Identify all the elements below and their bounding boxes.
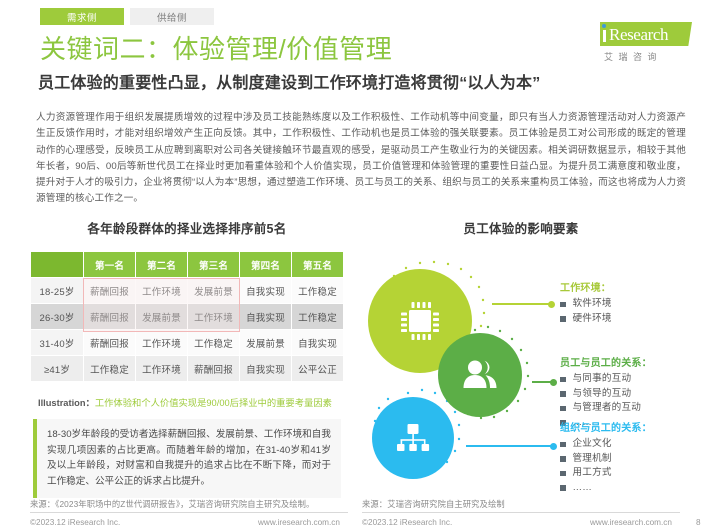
left-panel: 各年龄段群体的择业选择排序前5名 第一名 第二名 第三名 第四名 第五名 18-… — [28, 218, 346, 498]
legend-item: 软件环境 — [560, 297, 612, 312]
table-cell: 薪酬回报 — [84, 278, 135, 303]
bullet-square-icon — [560, 377, 566, 383]
body-paragraph: 人力资源管理作用于组织发展提质增效的过程中涉及员工技能熟练度以及工作积极性、工作… — [36, 110, 686, 208]
right-source-note: 来源：艾瑞咨询研究院自主研究及绘制 — [362, 498, 505, 510]
org-chart-icon — [393, 418, 433, 458]
connector-line-work-environment — [492, 303, 552, 305]
row-age-label: 31-40岁 — [31, 330, 83, 355]
influence-factors-diagram: 工作环境： 软件环境 硬件环境 员工与员工的关系： 与同事的互动 与领导的互动 … — [360, 251, 682, 496]
connector-dot-icon — [550, 379, 557, 386]
legend-item: 与管理者的互动 — [560, 401, 652, 416]
table-head: 第一名 第二名 第三名 第四名 第五名 — [31, 252, 343, 277]
legend-title: 工作环境： — [560, 279, 612, 294]
table-row: 18-25岁 薪酬回报 工作环境 发展前景 自我实现 工作稳定 — [31, 278, 343, 303]
table-col-header-3: 第三名 — [188, 252, 239, 277]
page-title: 关键词二：体验管理/价值管理 — [40, 29, 392, 66]
iresearch-logo: Research 艾瑞咨询 — [594, 22, 692, 66]
legend-item: 用工方式 — [560, 466, 652, 481]
left-note-box: 18-30岁年龄段的受访者选择薪酬回报、发展前景、工作环境和自我实现几项因素的占… — [33, 419, 341, 498]
legend-item-label: …… — [573, 481, 593, 496]
bullet-square-icon — [560, 442, 566, 448]
legend-item-label: 硬件环境 — [573, 312, 612, 327]
connector-line-organization-relations — [466, 445, 554, 447]
table-row: 26-30岁 薪酬回报 发展前景 工作环境 自我实现 工作稳定 — [31, 304, 343, 329]
bullet-square-icon — [560, 316, 566, 322]
bullet-square-icon — [560, 485, 566, 491]
right-copyright: ©2023.12 iResearch Inc. — [362, 518, 452, 527]
table-col-header-1: 第一名 — [84, 252, 135, 277]
table-corner-header — [31, 252, 83, 277]
table-cell: 工作环境 — [136, 278, 187, 303]
left-panel-title: 各年龄段群体的择业选择排序前5名 — [28, 218, 346, 237]
table-row: ≥41岁 工作稳定 工作环境 薪酬回报 自我实现 公平公正 — [31, 356, 343, 381]
table-col-header-4: 第四名 — [240, 252, 291, 277]
right-website-url: www.iresearch.com.cn — [590, 518, 672, 527]
legend-item-label: 企业文化 — [573, 437, 612, 452]
illustration-note: Illustration：工作体验和个人价值实现是90/00后择业中的重要考量因… — [33, 396, 341, 410]
logo-i-dot-icon — [602, 24, 606, 28]
logo-wordmark: Research — [609, 25, 668, 45]
bullet-square-icon — [560, 471, 566, 477]
table-wrapper: 第一名 第二名 第三名 第四名 第五名 18-25岁 薪酬回报 工作环境 发展前… — [28, 251, 346, 382]
slide-root: 需求侧 供给侧 Research 艾瑞咨询 关键词二：体验管理/价值管理 员工体… — [0, 0, 710, 532]
legend-item: 硬件环境 — [560, 312, 612, 327]
left-copyright: ©2023.12 iResearch Inc. — [30, 518, 120, 527]
connector-dot-icon — [550, 443, 557, 450]
table-cell: 发展前景 — [188, 278, 239, 303]
legend-title: 员工与员工的关系： — [560, 354, 652, 369]
table-col-header-2: 第二名 — [136, 252, 187, 277]
legend-item-label: 与同事的互动 — [573, 372, 632, 387]
row-age-label: 18-25岁 — [31, 278, 83, 303]
node-organization-relations[interactable] — [372, 397, 454, 479]
table-cell: 工作稳定 — [84, 356, 135, 381]
tab-demand-side[interactable]: 需求侧 — [40, 8, 124, 25]
bullet-square-icon — [560, 391, 566, 397]
table-cell: 工作环境 — [136, 356, 187, 381]
connector-dot-icon — [548, 301, 555, 308]
row-age-label: 26-30岁 — [31, 304, 83, 329]
page-subtitle: 员工体验的重要性凸显，从制度建设到工作环境打造将贯彻“以人为本” — [38, 69, 540, 93]
section-tabs: 需求侧 供给侧 — [40, 8, 214, 25]
bullet-square-icon — [560, 302, 566, 308]
legend-item: 企业文化 — [560, 437, 652, 452]
table-cell: 自我实现 — [240, 278, 291, 303]
table-cell: 发展前景 — [240, 330, 291, 355]
table-cell: 自我实现 — [240, 304, 291, 329]
left-footer-divider — [30, 512, 348, 513]
legend-title: 组织与员工的关系： — [560, 419, 652, 434]
table-cell: 发展前景 — [136, 304, 187, 329]
legend-item: 与领导的互动 — [560, 387, 652, 402]
table-cell: 薪酬回报 — [84, 304, 135, 329]
table-header-row: 第一名 第二名 第三名 第四名 第五名 — [31, 252, 343, 277]
legend-item: …… — [560, 481, 652, 496]
left-website-url: www.iresearch.com.cn — [258, 518, 340, 527]
legend-item-label: 用工方式 — [573, 466, 612, 481]
illustration-label: Illustration： — [38, 398, 95, 408]
legend-organization-relations: 组织与员工的关系： 企业文化 管理机制 用工方式 …… — [560, 419, 652, 495]
table-cell: 薪酬回报 — [188, 356, 239, 381]
tab-supply-side[interactable]: 供给侧 — [130, 8, 214, 25]
connector-line-employee-relations — [532, 381, 554, 383]
people-icon — [459, 354, 501, 396]
table-col-header-5: 第五名 — [292, 252, 343, 277]
table-cell: 公平公正 — [292, 356, 343, 381]
table-cell: 工作稳定 — [292, 304, 343, 329]
legend-item-label: 管理机制 — [573, 452, 612, 467]
legend-item-label: 与管理者的互动 — [573, 401, 642, 416]
node-employee-relations[interactable] — [438, 333, 522, 417]
legend-item: 管理机制 — [560, 452, 652, 467]
bullet-square-icon — [560, 406, 566, 412]
row-age-label: ≥41岁 — [31, 356, 83, 381]
legend-item: 与同事的互动 — [560, 372, 652, 387]
legend-list: 企业文化 管理机制 用工方式 …… — [560, 437, 652, 495]
logo-chinese-name: 艾瑞咨询 — [604, 50, 662, 63]
bullet-square-icon — [560, 456, 566, 462]
table-cell: 自我实现 — [240, 356, 291, 381]
illustration-text: 工作体验和个人价值实现是90/00后择业中的重要考量因素 — [95, 398, 332, 408]
table-cell: 薪酬回报 — [84, 330, 135, 355]
legend-work-environment: 工作环境： 软件环境 硬件环境 — [560, 279, 612, 326]
logo-mark: Research — [594, 22, 692, 48]
right-panel: 员工体验的影响要素 — [360, 218, 682, 496]
logo-i-bar-icon — [603, 30, 606, 42]
table-body: 18-25岁 薪酬回报 工作环境 发展前景 自我实现 工作稳定 26-30岁 薪… — [31, 278, 343, 381]
table-cell: 工作环境 — [136, 330, 187, 355]
legend-item-label: 软件环境 — [573, 297, 612, 312]
table-cell: 工作稳定 — [188, 330, 239, 355]
table-cell: 自我实现 — [292, 330, 343, 355]
page-number: 8 — [696, 518, 701, 527]
table-cell: 工作环境 — [188, 304, 239, 329]
table-cell: 工作稳定 — [292, 278, 343, 303]
right-footer-divider — [362, 512, 680, 513]
legend-list: 软件环境 硬件环境 — [560, 297, 612, 326]
table-row: 31-40岁 薪酬回报 工作环境 工作稳定 发展前景 自我实现 — [31, 330, 343, 355]
ranking-table: 第一名 第二名 第三名 第四名 第五名 18-25岁 薪酬回报 工作环境 发展前… — [30, 251, 344, 382]
chip-icon — [394, 295, 446, 347]
left-source-note: 来源：《2023年职场中的Z世代调研报告》，艾瑞咨询研究院自主研究及绘制。 — [30, 498, 314, 510]
legend-item-label: 与领导的互动 — [573, 387, 632, 402]
right-panel-title: 员工体验的影响要素 — [360, 218, 682, 237]
